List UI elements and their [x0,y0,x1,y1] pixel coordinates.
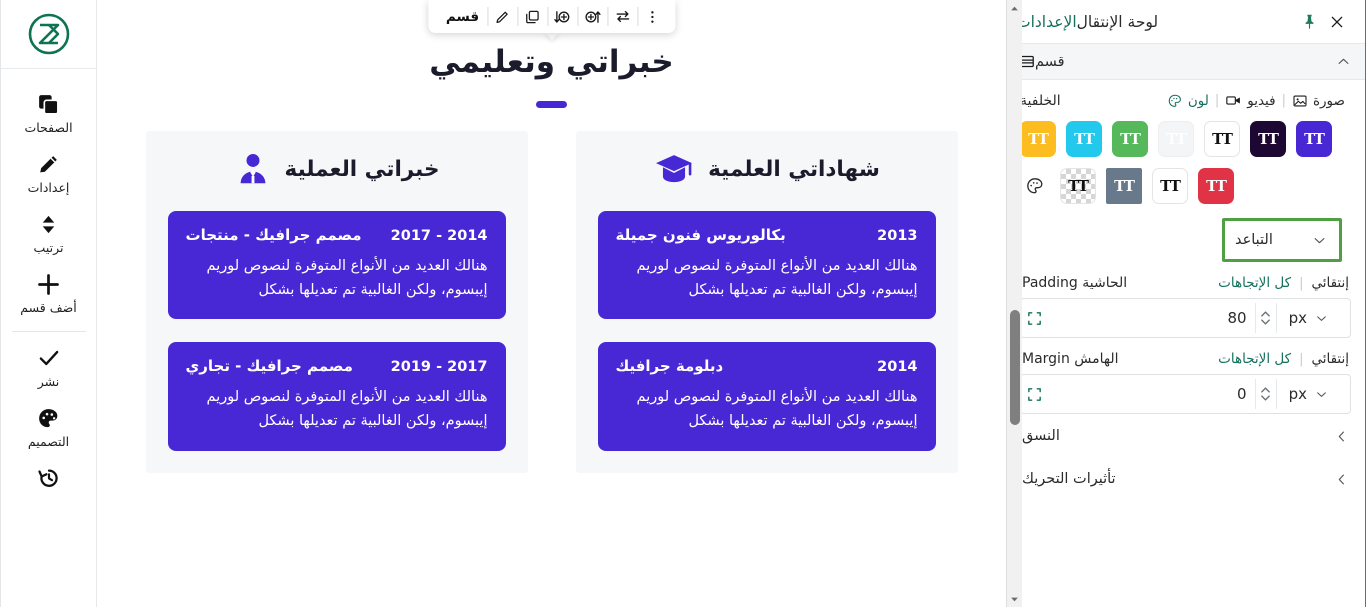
spacing-dropdown[interactable]: التباعد [1222,218,1342,262]
padding-input-group[interactable]: 80 px [1020,298,1351,338]
swatch-glyph: TT [1114,177,1134,195]
padding-value[interactable]: 80 [1047,309,1255,327]
rail-divider [12,331,86,332]
user-tie-icon [234,150,272,188]
chevron-down-icon [1315,312,1328,325]
margin-field-block: الهامش Margin كل الإتجاهات | إنتقائي 0 [1020,351,1351,414]
padding-label: الحاشية Padding [1022,275,1127,291]
padding-field-block: الحاشية Padding كل الإتجاهات | إنتقائي 8… [1020,275,1351,338]
column-education: شهاداتي العلمية بكالوريوس فنون جميلة 201… [576,131,958,473]
background-option-label: لون [1188,93,1209,109]
right-toolbar-rail: الصفحات إعدادات ترتيب [0,0,96,607]
column-heading-education: شهاداتي العلمية [598,150,936,188]
settings-panel-scrollbar[interactable] [1006,0,1022,607]
link-separator: | [1299,352,1303,367]
scrollbar-thumb[interactable] [1010,310,1020,425]
panel-title: الإعدادات [1016,13,1077,31]
education-card[interactable]: بكالوريوس فنون جميلة 2013 هنالك العديد م… [598,211,936,319]
collapsible-theme-label: النسق [1022,428,1060,444]
margin-field-header: الهامش Margin كل الإتجاهات | إنتقائي [1020,351,1351,374]
plus-icon [35,271,62,297]
toolbar-divider [547,7,548,26]
swatch-glyph: TT [1166,130,1186,148]
swatch-glyph: TT [1304,130,1324,148]
history-icon [36,465,62,491]
card-title: مصمم جرافيك - منتجات [186,226,362,244]
column-heading-text: خبراتي العملية [285,157,440,182]
swatch-glyph: TT [1028,130,1048,148]
swatch-glyph: TT [1074,130,1094,148]
background-option-label: صورة [1313,93,1345,109]
color-swatch-red[interactable]: TT [1198,168,1234,204]
padding-selective-link[interactable]: إنتقائي [1311,275,1349,291]
experience-card[interactable]: مصمم جرافيك - منتجات 2014 - 2017 هنالك ا… [168,211,506,319]
background-option-color[interactable]: لون [1161,93,1215,109]
card-date: 2017 - 2019 [391,359,488,375]
rail-label-add-section: أضف قسم [20,300,76,315]
color-swatch-cyan[interactable]: TT [1066,121,1102,157]
palette-icon [1167,93,1183,109]
column-heading-text: شهاداتي العلمية [708,157,880,182]
chevron-down-icon [1315,388,1328,401]
swatch-glyph: TT [1068,177,1088,195]
card-title: دبلومة جرافيك [616,357,724,375]
card-body: هنالك العديد من الأنواع المتوفرة لنصوص ل… [186,386,488,433]
color-swatch-light-gray[interactable]: TT [1158,121,1194,157]
padding-unit-label: px [1289,309,1307,327]
education-card[interactable]: دبلومة جرافيك 2014 هنالك العديد من الأنو… [598,342,936,450]
card-header-row: بكالوريوس فنون جميلة 2013 [616,226,918,244]
toolbar-section-label: قسم [437,9,486,25]
rail-item-reorder[interactable]: ترتيب [1,202,96,262]
custom-color-palette-icon[interactable] [1020,171,1050,201]
card-date: 2014 [877,359,917,375]
rail-item-history[interactable] [1,456,96,501]
add-above-icon[interactable] [579,3,606,30]
check-icon [36,345,62,371]
card-date: 2014 - 2017 [391,228,488,244]
card-body: هنالك العديد من الأنواع المتوفرة لنصوص ل… [616,255,918,302]
settings-panel-header: الإعدادات لوحة الإنتقال [1006,0,1365,44]
card-header-row: مصمم جرافيك - منتجات 2014 - 2017 [186,226,488,244]
toolbar-divider [487,7,488,26]
graduation-cap-icon [653,150,695,188]
option-separator: | [1282,93,1286,108]
background-row: الخلفية لون | [1020,80,1351,117]
padding-stepper[interactable] [1255,303,1277,333]
swatch-glyph: TT [1258,130,1278,148]
background-swatches-row-2: TT TT TT TT [1020,157,1351,204]
color-swatch-dark-purple[interactable]: TT [1250,121,1286,157]
toolbar-divider [517,7,518,26]
section-float-toolbar: قسم [428,0,675,33]
color-swatch-amber[interactable]: TT [1020,121,1056,157]
rail-label-pages: الصفحات [24,120,72,135]
duplicate-icon[interactable] [519,3,546,30]
swatch-glyph: TT [1212,130,1232,148]
margin-stepper[interactable] [1255,379,1277,409]
image-icon [1292,93,1308,109]
card-header-row: دبلومة جرافيك 2014 [616,357,918,375]
rail-label-settings: إعدادات [28,180,70,195]
box-sides-icon [1021,310,1047,327]
rail-item-pages[interactable]: الصفحات [1,82,96,142]
collapsible-theme[interactable]: النسق [1020,414,1351,457]
pages-icon [36,91,61,117]
card-date: 2013 [877,228,917,244]
background-option-video[interactable]: فيديو [1219,92,1281,109]
margin-selective-link[interactable]: إنتقائي [1311,351,1349,367]
padding-field-header: الحاشية Padding كل الإتجاهات | إنتقائي [1020,275,1351,298]
card-title: بكالوريوس فنون جميلة [616,226,786,244]
column-experience: خبراتي العملية مصمم جرافيك - منتجات 2014… [146,131,528,473]
rail-item-design[interactable]: التصميم [1,396,96,456]
add-below-icon[interactable] [549,3,576,30]
margin-label: الهامش Margin [1022,351,1119,367]
color-swatch-indigo[interactable]: TT [1296,121,1332,157]
experience-card[interactable]: مصمم جرافيك - تجاري 2017 - 2019 هنالك ال… [168,342,506,450]
swap-icon[interactable] [609,3,636,30]
rail-label-design: التصميم [28,434,69,449]
reorder-icon [37,211,60,237]
rail-item-add-section[interactable]: أضف قسم [1,262,96,322]
box-sides-icon [1021,386,1047,403]
rail-label-publish: نشر [38,374,60,389]
swatch-glyph: TT [1160,177,1180,195]
toolbar-pointer [544,32,560,40]
page-canvas: قسم [96,0,1006,607]
background-label: الخلفية [1020,93,1061,109]
title-underline-bar [536,101,567,108]
swatch-glyph: TT [1206,177,1226,195]
padding-all-directions-link[interactable]: كل الإتجاهات [1218,275,1291,291]
link-separator: | [1299,276,1303,291]
toolbar-divider [577,7,578,26]
margin-all-directions-link[interactable]: كل الإتجاهات [1218,351,1291,367]
margin-value[interactable]: 0 [1047,385,1255,403]
palette-icon [36,405,61,431]
color-swatch-transparent[interactable]: TT [1060,168,1096,204]
background-option-image[interactable]: صورة [1286,93,1351,109]
color-swatch-green[interactable]: TT [1112,121,1148,157]
margin-unit-label: px [1289,385,1307,403]
close-icon[interactable] [1323,8,1351,36]
collapsible-animations[interactable]: تأثيرات التحريك [1020,457,1351,500]
card-header-row: مصمم جرافيك - تجاري 2017 - 2019 [186,357,488,375]
chevron-down-icon [1312,233,1327,248]
padding-unit-select[interactable]: px [1277,309,1340,327]
video-icon [1225,92,1242,109]
card-title: مصمم جرافيك - تجاري [186,357,353,375]
chevron-left-icon [1334,472,1349,487]
card-body: هنالك العديد من الأنواع المتوفرة لنصوص ل… [186,255,488,302]
toolbar-divider [637,7,638,26]
section-header-label: قسم [1035,54,1065,70]
pencil-icon [36,151,61,177]
rail-item-settings[interactable]: إعدادات [1,142,96,202]
section-header-row[interactable]: قسم [1006,44,1365,80]
color-swatch-white[interactable]: TT [1204,121,1240,157]
rail-items: الصفحات إعدادات ترتيب [1,69,96,501]
chevron-left-icon [1334,429,1349,444]
more-options-icon[interactable] [639,3,666,30]
card-body: هنالك العديد من الأنواع المتوفرة لنصوص ل… [616,386,918,433]
option-separator: | [1215,93,1219,108]
margin-unit-select[interactable]: px [1277,385,1340,403]
margin-input-group[interactable]: 0 px [1020,374,1351,414]
background-option-label: فيديو [1247,93,1275,109]
scroll-down-arrow-icon[interactable] [1006,591,1022,607]
app-logo-icon [27,12,71,56]
column-heading-experience: خبراتي العملية [168,150,506,188]
scroll-up-arrow-icon[interactable] [1007,0,1022,16]
settings-panel: الإعدادات لوحة الإنتقال قسم [1006,0,1366,607]
edit-pencil-icon[interactable] [489,3,516,30]
spacing-dropdown-label: التباعد [1235,232,1273,248]
settings-panel-body: الخلفية لون | [1006,80,1365,607]
chevron-up-icon[interactable] [1336,54,1351,69]
page-title: خبراتي وتعليمي [97,44,1006,80]
rail-item-publish[interactable]: نشر [1,336,96,396]
color-swatch-white-2[interactable]: TT [1152,168,1188,204]
app-logo[interactable] [1,0,96,69]
swatch-glyph: TT [1120,130,1140,148]
pin-icon[interactable] [1295,8,1323,36]
background-swatches-row-1: TT TT TT TT TT TT TT [1020,117,1351,157]
content-columns: خبراتي العملية مصمم جرافيك - منتجات 2014… [97,131,1006,473]
color-swatch-slate-selected[interactable]: TT [1106,168,1142,204]
collapsible-animations-label: تأثيرات التحريك [1022,471,1116,487]
panel-subtitle[interactable]: لوحة الإنتقال [1077,13,1159,31]
rail-label-reorder: ترتيب [34,240,64,255]
app-root: الصفحات إعدادات ترتيب [0,0,1366,607]
toolbar-divider [607,7,608,26]
